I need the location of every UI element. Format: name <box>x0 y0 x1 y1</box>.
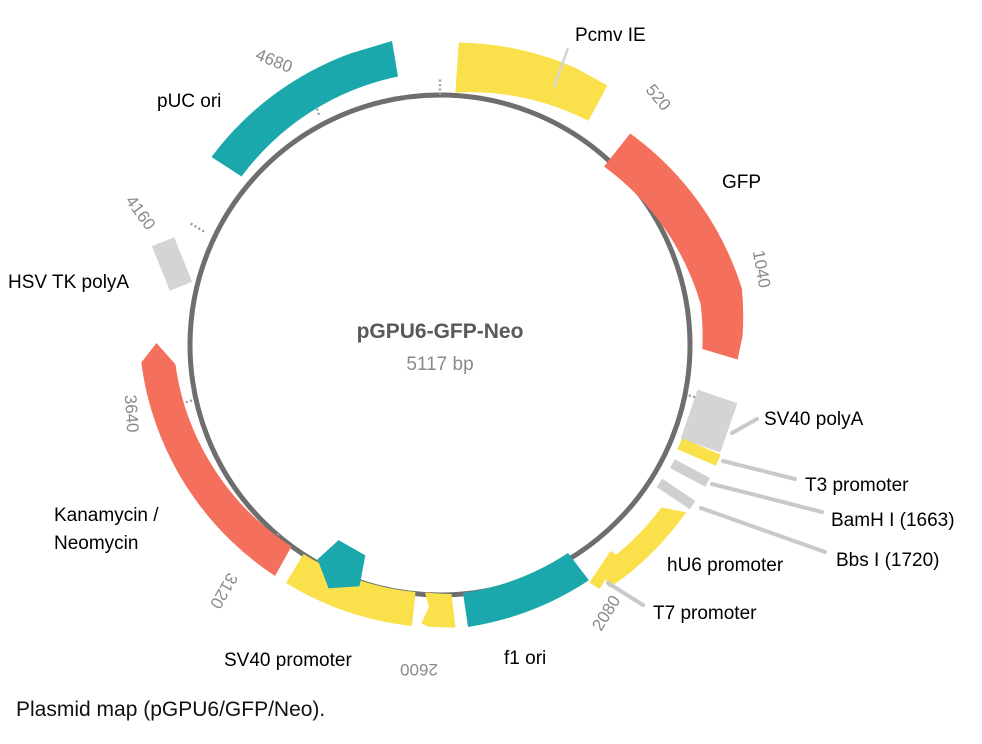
label-bamhi: BamH I (1663) <box>831 510 955 531</box>
feature-small-yellow-arrow[interactable] <box>422 593 456 628</box>
label-kanamycin-line1: Kanamycin / <box>54 505 159 526</box>
tick-label-4680: 4680 <box>253 45 295 77</box>
label-f1-ori: f1 ori <box>504 648 546 669</box>
feature-hsv-tk-polya-shape[interactable] <box>152 237 192 290</box>
feature-gfp[interactable] <box>604 134 743 360</box>
tick-label-2080: 2080 <box>588 592 624 634</box>
label-t3-promoter: T3 promoter <box>805 475 909 496</box>
feature-bamhi-site[interactable] <box>670 459 710 487</box>
feature-bamhi-site-shape[interactable] <box>670 459 710 487</box>
label-bbsi: Bbs I (1720) <box>836 550 940 571</box>
label-t7-promoter: T7 promoter <box>653 603 757 624</box>
tick-label-1040: 1040 <box>749 249 774 290</box>
plasmid-name-title: pGPU6-GFP-Neo <box>357 320 524 343</box>
leader-bbsi <box>701 508 825 552</box>
label-puc-ori: pUC ori <box>157 91 221 112</box>
tick-label-520: 520 <box>642 80 675 114</box>
plasmid-map-figure: Pcmv IE GFP SV40 polyA T3 promoter BamH … <box>0 0 982 744</box>
feature-gfp-shape[interactable] <box>604 134 743 360</box>
label-sv40-polya: SV40 polyA <box>764 409 864 430</box>
plasmid-map-canvas: Pcmv IE GFP SV40 polyA T3 promoter BamH … <box>0 0 982 744</box>
feature-hsv-tk-polya[interactable] <box>152 237 192 290</box>
tick-label-4160: 4160 <box>122 192 160 234</box>
tick-label-3640: 3640 <box>121 394 143 433</box>
feature-puc-ori-shape[interactable] <box>212 41 399 177</box>
leader-sv40-polya <box>732 419 757 433</box>
feature-bbsi-site-shape[interactable] <box>657 479 696 510</box>
label-hu6-promoter: hU6 promoter <box>667 555 784 576</box>
tick-4160 <box>189 223 204 232</box>
label-gfp: GFP <box>722 172 761 193</box>
feature-f1-ori[interactable] <box>463 553 589 627</box>
feature-pcmv-ie-shape[interactable] <box>455 43 607 121</box>
figure-caption: Plasmid map (pGPU6/GFP/Neo). <box>16 698 325 722</box>
feature-pcmv-ie[interactable] <box>455 43 607 121</box>
label-hsv-tk-polya: HSV TK polyA <box>8 272 129 293</box>
feature-small-yellow-arrow-shape[interactable] <box>422 593 456 628</box>
label-sv40-promoter: SV40 promoter <box>224 650 352 671</box>
feature-f1-ori-shape[interactable] <box>463 553 589 627</box>
plasmid-length-label: 5117 bp <box>406 354 473 375</box>
tick-label-3120: 3120 <box>206 570 241 612</box>
feature-bbsi-site[interactable] <box>657 479 696 510</box>
label-pcmv-ie: Pcmv IE <box>575 25 646 46</box>
leader-t3-promoter <box>723 461 795 479</box>
tick-label-2600: 2600 <box>400 660 438 679</box>
feature-puc-ori[interactable] <box>212 41 399 177</box>
label-kanamycin-line2: Neomycin <box>54 533 138 554</box>
